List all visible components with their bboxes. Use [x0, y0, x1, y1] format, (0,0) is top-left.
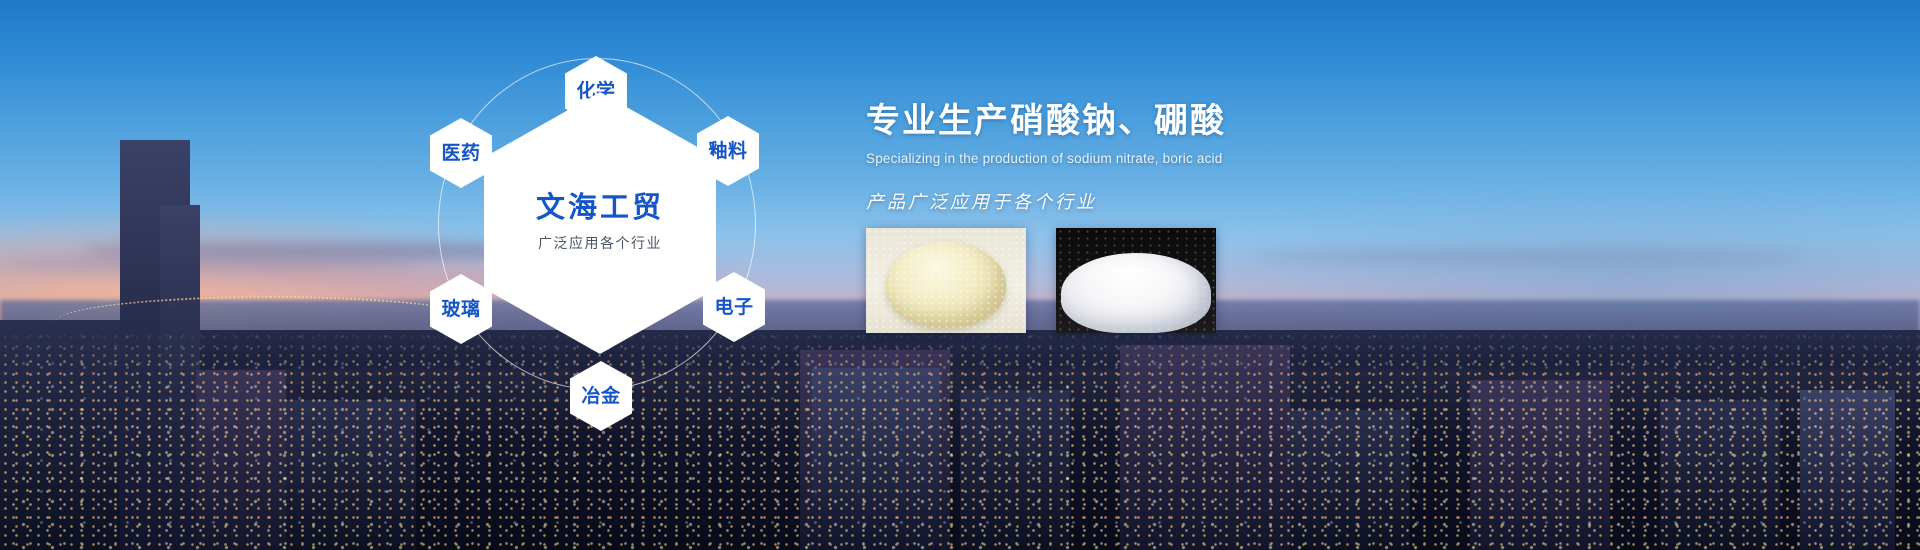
skyline-tower — [1800, 390, 1895, 550]
company-name: 文海工贸 — [536, 193, 664, 225]
cloud-streak — [0, 258, 430, 271]
hex-node-label: 医药 — [441, 144, 480, 163]
banner-headline: 专业生产硝酸钠、硼酸 — [866, 100, 1586, 143]
company-tagline: 广泛应用各个行业 — [538, 233, 662, 253]
banner-tagline: 产品广泛应用于各个行业 — [866, 188, 1586, 214]
powder-texture — [866, 228, 1026, 333]
hex-node-label: 电子 — [714, 298, 753, 317]
skyline-block — [1290, 410, 1410, 550]
banner-subline-english: Specializing in the production of sodium… — [866, 151, 1586, 166]
powder-texture — [1056, 228, 1216, 333]
skyline-block — [1660, 400, 1780, 550]
skyline-block — [1470, 380, 1610, 550]
product-photo-group — [866, 228, 1216, 333]
product-photo-boric-acid — [1056, 228, 1216, 333]
skyline-tower — [160, 205, 200, 550]
skyline-block — [1120, 345, 1290, 550]
product-photo-sodium-nitrate — [866, 228, 1026, 333]
skyline-block — [0, 320, 120, 550]
hexagon-ring-graphic: 化学 釉料 电子 冶金 玻璃 医药 文海工贸 广泛应用各个行业 — [420, 18, 780, 448]
hero-banner: 化学 釉料 电子 冶金 玻璃 医药 文海工贸 广泛应用各个行业 专业生产硝酸钠、… — [0, 0, 1920, 550]
hex-node-label: 玻璃 — [441, 300, 480, 319]
hex-node-label: 冶金 — [581, 387, 620, 406]
cloud-streak — [1250, 250, 1810, 264]
banner-copy: 专业生产硝酸钠、硼酸 Specializing in the productio… — [866, 100, 1586, 214]
skyline-block — [960, 390, 1070, 550]
skyline-block — [196, 370, 286, 550]
skyline-tower — [812, 368, 940, 550]
skyline-block — [286, 400, 416, 550]
